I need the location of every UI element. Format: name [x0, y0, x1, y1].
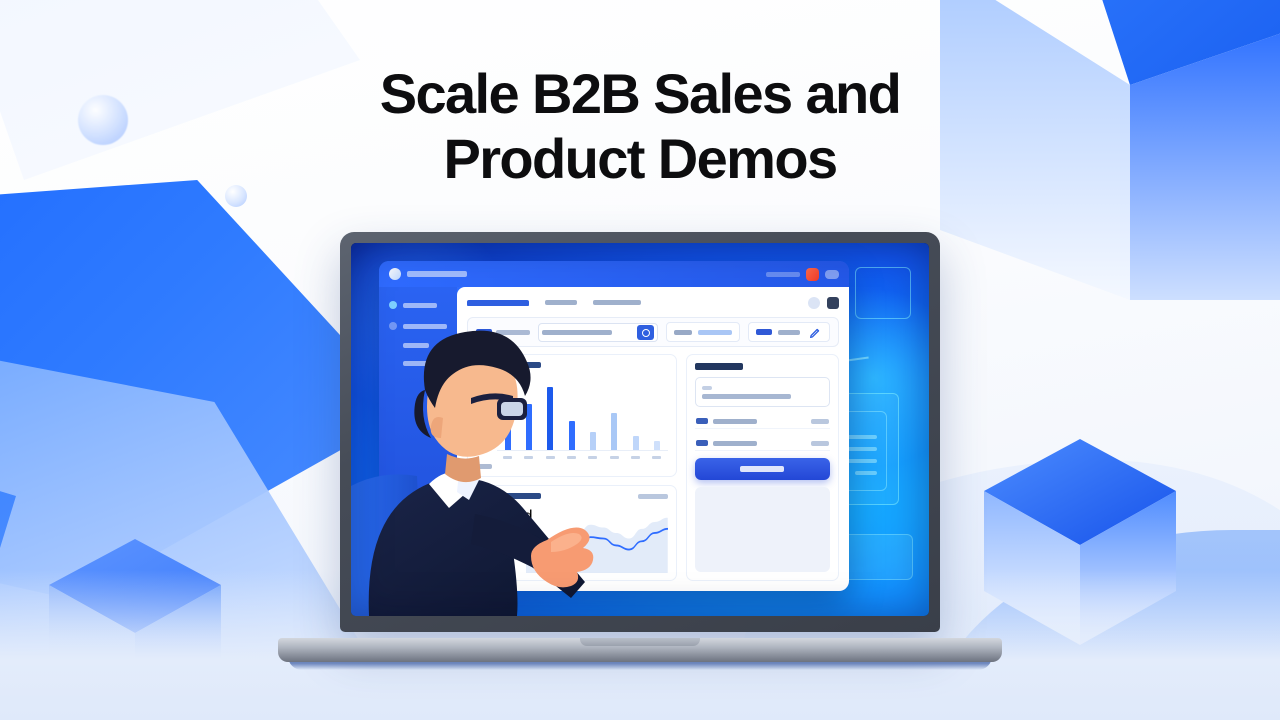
list-item[interactable]: [695, 436, 830, 451]
tech-panel-4: [839, 534, 913, 580]
list-item-value: [811, 419, 829, 424]
hero-banner: Scale B2B Sales and Product Demos: [0, 0, 1280, 720]
page-title: Scale B2B Sales and Product Demos: [0, 62, 1280, 192]
list-item-icon: [696, 418, 708, 424]
cta-label: [740, 466, 784, 472]
line-chart-range-label[interactable]: [638, 494, 668, 499]
grid-icon[interactable]: [827, 297, 839, 309]
bar-column: [649, 373, 664, 450]
list-item[interactable]: [695, 414, 830, 429]
stat-chip-2[interactable]: [748, 322, 830, 342]
x-tick: [652, 456, 661, 459]
dashboard-topbar: [379, 261, 849, 287]
tabs-actions: [808, 297, 839, 309]
list-item-value: [811, 441, 829, 446]
avatar[interactable]: [825, 270, 839, 279]
chip-value: [778, 330, 800, 335]
bar: [633, 436, 639, 450]
businessman-illustration: [351, 286, 611, 616]
bar: [611, 413, 617, 450]
chip-label: [674, 330, 692, 335]
tech-bar-2: [847, 447, 877, 451]
content-placeholder: [695, 487, 830, 572]
topbar-actions: [766, 268, 839, 281]
search-icon[interactable]: [637, 325, 654, 340]
right-panel-title: [695, 363, 743, 370]
chip-value: [698, 330, 732, 335]
right-panel-field[interactable]: [695, 377, 830, 407]
right-panel: [686, 354, 839, 581]
list-item-label: [713, 441, 757, 446]
bar: [654, 441, 660, 450]
tech-panel-1: [855, 267, 911, 319]
account-label: [766, 272, 800, 277]
field-label: [702, 386, 712, 390]
headline-line-2: Product Demos: [0, 127, 1280, 192]
app-name-label: [407, 271, 467, 277]
list-item-icon: [696, 440, 708, 446]
app-logo-icon: [389, 268, 401, 280]
laptop-base: [278, 638, 1002, 662]
notification-badge-icon[interactable]: [806, 268, 819, 281]
laptop-lid: trend band: [340, 232, 940, 632]
field-value: [702, 394, 792, 399]
bar-column: [628, 373, 643, 450]
help-icon[interactable]: [808, 297, 820, 309]
x-tick: [610, 456, 619, 459]
laptop-screen: trend band: [351, 243, 929, 616]
edit-icon[interactable]: [809, 326, 822, 339]
x-tick: [631, 456, 640, 459]
chip-label: [756, 329, 772, 335]
primary-cta-button[interactable]: [695, 458, 830, 480]
list-item-label: [713, 419, 757, 424]
laptop-device: trend band: [278, 232, 1002, 662]
tech-bar-4: [855, 471, 877, 475]
headline-line-1: Scale B2B Sales and: [0, 62, 1280, 127]
stat-chip-1[interactable]: [666, 322, 740, 342]
